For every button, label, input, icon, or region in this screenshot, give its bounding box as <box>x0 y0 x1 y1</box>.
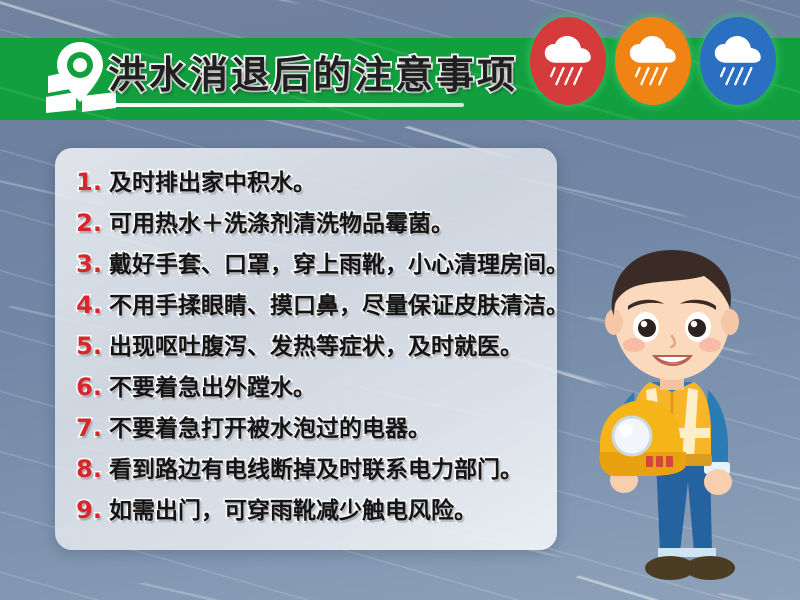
flood-safety-poster: 洪水消退后的注意事项 <box>0 0 800 600</box>
list-item-text: 不要着急打开被水泡过的电器。 <box>109 409 431 443</box>
list-item: 2. 可用热水＋洗涤剂清洗物品霉菌。 <box>55 204 557 245</box>
list-item-text: 如需出门，可穿雨靴减少触电风险。 <box>109 491 477 525</box>
list-item-number: 4. <box>68 291 102 319</box>
cloud-rain-icon <box>626 36 680 86</box>
rainstorm-warning-orange[interactable] <box>615 17 691 105</box>
list-item-number: 5. <box>68 332 102 360</box>
cloud-rain-icon <box>711 36 765 86</box>
list-item-text: 及时排出家中积水。 <box>109 163 316 197</box>
title-underline <box>106 103 464 107</box>
list-item: 6. 不要着急出外蹚水。 <box>55 368 557 409</box>
warning-badge-group <box>530 17 780 105</box>
list-item: 9. 如需出门，可穿雨靴减少触电风险。 <box>55 491 557 532</box>
list-item-number: 2. <box>68 209 102 237</box>
list-item: 1. 及时排出家中积水。 <box>55 163 557 204</box>
list-item-number: 3. <box>68 250 102 278</box>
list-item: 7. 不要着急打开被水泡过的电器。 <box>55 409 557 450</box>
page-title: 洪水消退后的注意事项 <box>108 44 518 99</box>
list-item: 5. 出现呕吐腹泻、发热等症状，及时就医。 <box>55 327 557 368</box>
tips-panel: 1. 及时排出家中积水。 2. 可用热水＋洗涤剂清洗物品霉菌。 3. 戴好手套、… <box>55 148 557 550</box>
list-item-number: 8. <box>68 455 102 483</box>
list-item-text: 不要着急出外蹚水。 <box>109 368 316 402</box>
list-item-number: 6. <box>68 373 102 401</box>
cloud-rain-icon <box>541 36 595 86</box>
list-item-text: 戴好手套、口罩，穿上雨靴，小心清理房间。 <box>109 245 569 279</box>
list-item: 4. 不用手揉眼睛、摸口鼻，尽量保证皮肤清洁。 <box>55 286 557 327</box>
list-item-number: 1. <box>68 168 102 196</box>
rainstorm-warning-blue[interactable] <box>700 17 776 105</box>
rainstorm-warning-red[interactable] <box>530 17 606 105</box>
list-item-number: 9. <box>68 496 102 524</box>
list-item-text: 出现呕吐腹泻、发热等症状，及时就医。 <box>109 327 523 361</box>
rescue-worker-illustration <box>560 232 800 600</box>
list-item-text: 可用热水＋洗涤剂清洗物品霉菌。 <box>109 204 454 238</box>
tips-list: 1. 及时排出家中积水。 2. 可用热水＋洗涤剂清洗物品霉菌。 3. 戴好手套、… <box>55 148 557 565</box>
list-item-text: 看到路边有电线断掉及时联系电力部门。 <box>109 450 523 484</box>
list-item: 8. 看到路边有电线断掉及时联系电力部门。 <box>55 450 557 491</box>
list-item-text: 不用手揉眼睛、摸口鼻，尽量保证皮肤清洁。 <box>109 286 569 320</box>
list-item-number: 7. <box>68 414 102 442</box>
list-item: 3. 戴好手套、口罩，穿上雨靴，小心清理房间。 <box>55 245 557 286</box>
